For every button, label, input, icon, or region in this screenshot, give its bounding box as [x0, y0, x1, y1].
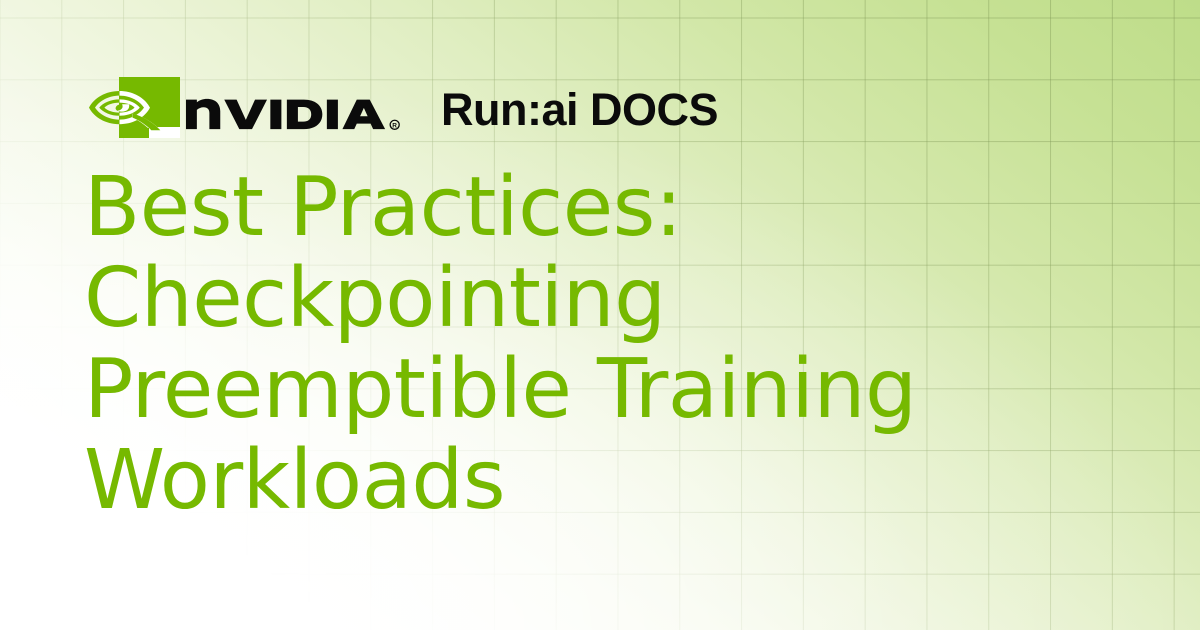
title-line-1: Best Practices:	[84, 162, 1084, 253]
product-label: Run:ai DOCS	[441, 87, 718, 132]
svg-text:R: R	[392, 122, 397, 129]
title-line-3: Preemptible Training	[84, 344, 1084, 435]
nvidia-eye-logo-icon	[88, 77, 180, 143]
registered-trademark-icon: R	[390, 120, 399, 129]
nvidia-wordmark-icon: R	[186, 90, 419, 130]
page-title: Best Practices: Checkpointing Preemptibl…	[84, 162, 1084, 526]
title-line-4: Workloads	[84, 435, 1084, 526]
title-line-2: Checkpointing	[84, 253, 1084, 344]
social-card: R Run:ai DOCS Best Practices: Checkpoint…	[0, 0, 1200, 630]
brand-lockup: R Run:ai DOCS	[88, 74, 718, 146]
